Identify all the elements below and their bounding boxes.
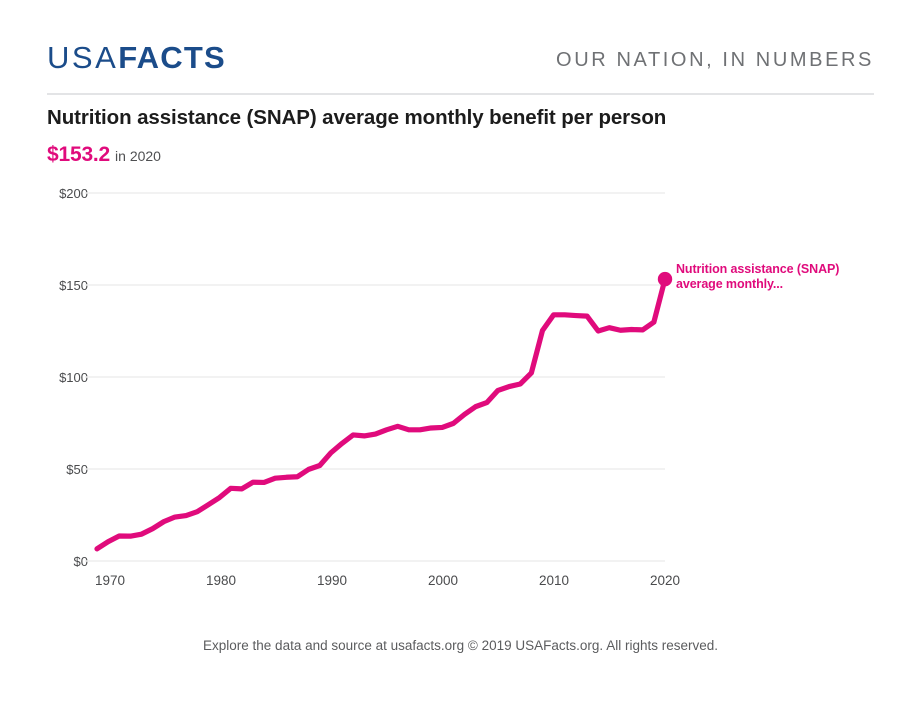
usafacts-chart-page: USAFACTS OUR NATION, IN NUMBERS Nutritio… (0, 0, 921, 703)
usafacts-logo: USAFACTS (47, 40, 226, 76)
headline-year: in 2020 (115, 148, 161, 164)
logo-text-usa: USA (47, 40, 118, 76)
x-tick-label-2020: 2020 (635, 573, 695, 588)
series-end-marker (658, 272, 672, 286)
page-header: USAFACTS OUR NATION, IN NUMBERS (47, 40, 874, 92)
chart-title: Nutrition assistance (SNAP) average mont… (47, 106, 666, 130)
chart-gridlines (85, 193, 665, 561)
y-tick-label-0: $0 (36, 554, 88, 569)
y-tick-label-200: $200 (36, 186, 88, 201)
header-divider (47, 93, 874, 95)
headline-value: $153.2 (47, 143, 110, 167)
x-tick-label-2010: 2010 (524, 573, 584, 588)
x-tick-label-2000: 2000 (413, 573, 473, 588)
x-tick-label-1980: 1980 (191, 573, 251, 588)
series-line-nutrition-assistance (97, 279, 665, 549)
y-tick-label-150: $150 (36, 278, 88, 293)
header-tagline: OUR NATION, IN NUMBERS (556, 40, 874, 78)
y-tick-label-50: $50 (36, 462, 88, 477)
chart-subtitle: $153.2 in 2020 (47, 143, 161, 167)
x-tick-label-1970: 1970 (80, 573, 140, 588)
footer-attribution: Explore the data and source at usafacts.… (0, 638, 921, 653)
series-label: Nutrition assistance (SNAP) average mont… (676, 262, 888, 292)
x-tick-label-1990: 1990 (302, 573, 362, 588)
logo-text-facts: FACTS (118, 40, 226, 76)
y-tick-label-100: $100 (36, 370, 88, 385)
